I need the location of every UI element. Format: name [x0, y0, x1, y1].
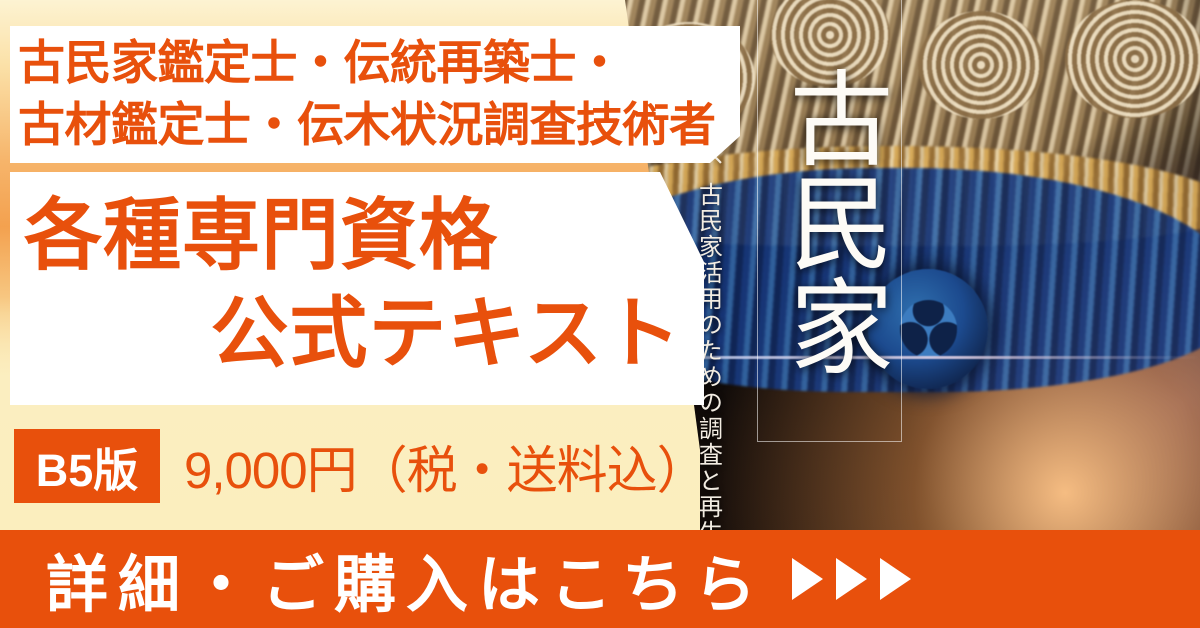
wood-swirl-motif [918, 11, 1044, 119]
triangle-right-icon [792, 558, 823, 600]
headline-line-1: 古民家鑑定士・伝統再築士・ [18, 32, 724, 94]
page-title-line-2: 公式テキスト [16, 284, 688, 382]
price-amount: 9,000円（税・送料込） [184, 429, 707, 503]
headline: 古民家鑑定士・伝統再築士・ 古材鑑定士・伝木状況調査技術者 [18, 32, 724, 156]
cta-arrow-group [792, 558, 911, 600]
page-title-line-1: 各種専門資格 [16, 186, 688, 284]
format-badge: B5版 [14, 429, 160, 503]
cta-label: 詳細・ご購入はこちら [46, 534, 766, 624]
triangle-right-icon [880, 558, 911, 600]
book-cover-title: 古民家 [759, 6, 899, 436]
price-row: B5版 9,000円（税・送料込） [14, 429, 707, 503]
page-title: 各種専門資格 公式テキスト [16, 186, 688, 383]
headline-line-2: 古材鑑定士・伝木状況調査技術者 [18, 94, 724, 156]
cta-bar[interactable]: 詳細・ご購入はこちら [0, 530, 1200, 628]
triangle-right-icon [836, 558, 867, 600]
wood-swirl-motif [1065, 0, 1200, 118]
promo-banner: 古民家 伝統構法、古民家活用のための調査と再生の 古民家鑑定士・伝統再築士・ 古… [0, 0, 1200, 628]
